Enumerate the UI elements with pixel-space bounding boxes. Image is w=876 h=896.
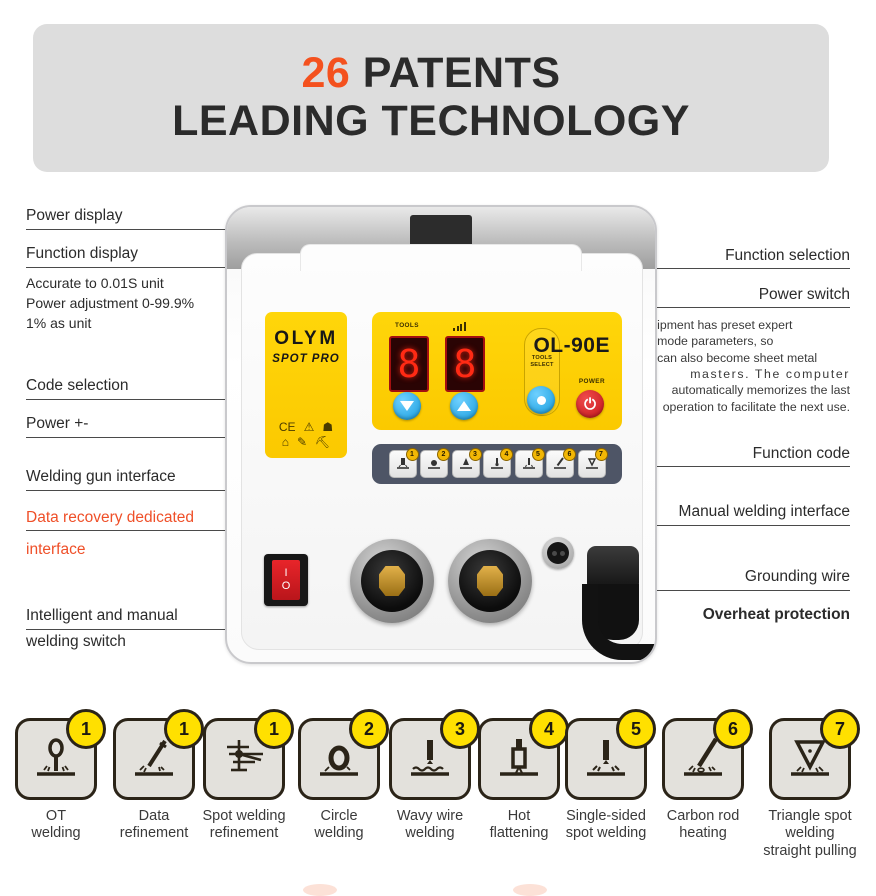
function-icon-item[interactable]: 3 Wavy wire welding [382,718,478,843]
callout-data-recovery: Data recovery dedicated interface [26,508,246,560]
brand-subtitle: SPOT PRO [272,353,339,365]
callout-welding-gun-interface: Welding gun interface [26,467,246,487]
function-icon-row: 1 OT welding 1 Data refinement [0,718,876,892]
infographic-root: 26 PATENTS LEADING TECHNOLOGY Power disp… [0,0,876,892]
banner-line-2: LEADING TECHNOLOGY [172,99,690,145]
documentation-icon: ✎ [297,436,307,448]
rocker-face: I O [272,560,300,600]
spec-note-line-2: Power adjustment 0-99.9% [26,294,231,314]
function-code-item[interactable]: 4 [483,450,511,478]
function-icon-caption: Single-sided spot welding [558,808,654,843]
power-display: 8 [445,336,485,392]
caption-line-1: Spot welding [196,808,292,825]
function-code-badge: 5 [532,448,545,461]
function-icon-item[interactable]: 5 Single-sided spot welding [558,718,654,843]
function-icon-item[interactable]: 1 Spot welding refinement [196,718,292,843]
welding-machine-photo: OLYM SPOT PRO CE ⚠ ☗ ⌂ ✎ ⛏ T [225,205,657,664]
function-code-badge: 6 [563,448,576,461]
control-panel: TOOLS 8 8 TOOLS [372,312,622,430]
welding-gun-socket[interactable] [350,539,434,623]
power-symbol-icon: ⏻ [584,397,596,412]
caption-line-2: refinement [196,825,292,842]
socket-inner [459,550,521,612]
power-button-label: POWER [579,378,605,385]
caption-line-1: Single-sided [558,808,654,825]
function-icon-item[interactable]: 1 OT welding [8,718,104,843]
function-code-badge: 1 [406,448,419,461]
callout-welding-switch-line-1: Intelligent and manual [26,606,246,626]
brass-terminal-icon [379,566,405,596]
caption-line-1: Carbon rod [655,808,751,825]
function-icon-item[interactable]: 4 Hot flattening [471,718,567,843]
select-dot-icon [537,396,546,405]
no-disposal-icon: ⛏ [315,436,330,448]
spec-note-line-3: 1% as unit [26,314,231,334]
function-code-badge: 4 [500,448,513,461]
function-code-item[interactable]: 5 [515,450,543,478]
function-icon-box: 1 [113,718,195,800]
caption-line-2: welding [8,825,104,842]
caption-line-2: welding [382,825,478,842]
function-icon-item[interactable]: 1 Data refinement [106,718,202,843]
brand-name: OLYM [274,328,338,350]
power-button[interactable]: ⏻ [576,390,604,418]
certification-row-1: CE ⚠ ☗ [279,421,333,433]
tools-select-label-2: SELECT [530,362,553,368]
header-banner: 26 PATENTS LEADING TECHNOLOGY [33,24,829,172]
callout-welding-gun-interface-text: Welding gun interface [26,467,246,487]
certification-row-2: ⌂ ✎ ⛏ [282,436,331,448]
function-code-item[interactable]: 6 [546,450,574,478]
socket-inner [361,550,423,612]
function-icon-badge: 1 [254,709,294,749]
brand-logo-panel: OLYM SPOT PRO CE ⚠ ☗ ⌂ ✎ ⛏ [265,312,347,458]
function-icon-caption: Wavy wire welding [382,808,478,843]
function-icon-item[interactable]: 7 Triangle spot welding straight pulling [750,718,870,860]
indoor-use-icon: ⌂ [282,436,289,448]
rocker-on-label: I [284,568,287,579]
function-icon-caption: Hot flattening [471,808,567,843]
function-code-badge: 2 [437,448,450,461]
callout-spec-note: Accurate to 0.01S unit Power adjustment … [26,274,231,334]
callout-function-display-text: Function display [26,244,216,264]
chevron-down-icon [400,401,414,411]
function-code-item[interactable]: 3 [452,450,480,478]
decorative-blob [513,884,547,896]
tools-select-button[interactable] [527,386,555,414]
tools-display-label: TOOLS [395,322,419,329]
function-icon-badge: 5 [616,709,656,749]
grounding-cable [582,584,657,660]
power-display-value: 8 [454,345,477,383]
power-up-button[interactable] [450,392,478,420]
caption-line-1: Hot [471,808,567,825]
function-icon-item[interactable]: 2 Circle welding [291,718,387,843]
function-icon-caption: Triangle spot welding straight pulling [750,808,870,860]
function-code-item[interactable]: 1 [389,450,417,478]
plate-notch [300,244,582,271]
caption-line-1: Circle [291,808,387,825]
function-code-item[interactable]: 2 [420,450,448,478]
callout-welding-switch: Intelligent and manual welding switch [26,606,246,652]
tools-display: 8 [389,336,429,392]
callout-power-display-text: Power display [26,206,216,226]
function-icon-box: 4 [478,718,560,800]
warning-triangle-icon: ⚠ [304,421,315,433]
caption-line-1: Triangle spot [750,808,870,825]
chevron-up-icon [457,401,471,411]
caption-line-2: spot welding [558,825,654,842]
leader-grounding-h [634,590,850,591]
callout-data-recovery-line-1: Data recovery dedicated [26,508,246,528]
banner-line-1: 26 PATENTS [301,51,560,97]
caption-line-1: Wavy wire [382,808,478,825]
function-code-item[interactable]: 7 [578,450,606,478]
function-icon-caption: Spot welding refinement [196,808,292,843]
tools-display-value: 8 [398,345,421,383]
function-icon-box: 1 [203,718,285,800]
model-number: OL-90E [533,334,610,358]
function-icon-box: 5 [565,718,647,800]
function-icon-box: 7 [769,718,851,800]
callout-data-recovery-line-2: interface [26,540,246,560]
function-icon-box: 6 [662,718,744,800]
caption-line-1: OT [8,808,104,825]
callout-power-display: Power display [26,206,216,226]
function-icon-box: 1 [15,718,97,800]
callout-function-display: Function display [26,244,216,264]
rocker-off-label: O [282,581,291,592]
function-icon-caption: OT welding [8,808,104,843]
ce-mark-icon: CE [279,421,296,433]
caption-line-2: heating [655,825,751,842]
two-pin-connector-icon [547,542,569,564]
function-icon-badge: 6 [713,709,753,749]
banner-line-1-rest: PATENTS [350,49,560,97]
decorative-blob [303,884,337,896]
function-code-badge: 3 [469,448,482,461]
caption-line-2: flattening [471,825,567,842]
function-icon-caption: Data refinement [106,808,202,843]
caption-line-3: straight pulling [750,843,870,860]
callout-power-plus-minus: Power +- [26,414,216,434]
caption-line-1: Data [106,808,202,825]
callout-code-selection-text: Code selection [26,376,216,396]
function-icon-box: 3 [389,718,471,800]
function-code-strip: 1 2 3 4 5 [372,444,622,484]
spec-note-line-1: Accurate to 0.01S unit [26,274,231,294]
function-icon-caption: Carbon rod heating [655,808,751,843]
patent-count: 26 [301,49,350,97]
manual-book-icon: ☗ [322,421,333,433]
machine-front-plate: OLYM SPOT PRO CE ⚠ ☗ ⌂ ✎ ⛏ T [241,253,643,650]
code-down-button[interactable] [393,392,421,420]
function-icon-badge: 7 [820,709,860,749]
brass-terminal-icon [477,566,503,596]
function-icon-box: 2 [298,718,380,800]
function-icon-badge: 1 [66,709,106,749]
callout-power-plus-minus-text: Power +- [26,414,216,434]
manual-welding-socket[interactable] [542,537,574,569]
data-recovery-socket[interactable] [448,539,532,623]
caption-line-2: welding [750,825,870,842]
function-icon-item[interactable]: 6 Carbon rod heating [655,718,751,843]
mode-rocker-switch[interactable]: I O [264,554,308,606]
callout-code-selection: Code selection [26,376,216,396]
function-icon-caption: Circle welding [291,808,387,843]
callout-welding-switch-line-2: welding switch [26,632,246,652]
function-code-badge: 7 [595,448,608,461]
caption-line-2: welding [291,825,387,842]
power-level-icon [453,322,466,331]
certification-marks: CE ⚠ ☗ ⌂ ✎ ⛏ [265,421,347,448]
caption-line-2: refinement [106,825,202,842]
